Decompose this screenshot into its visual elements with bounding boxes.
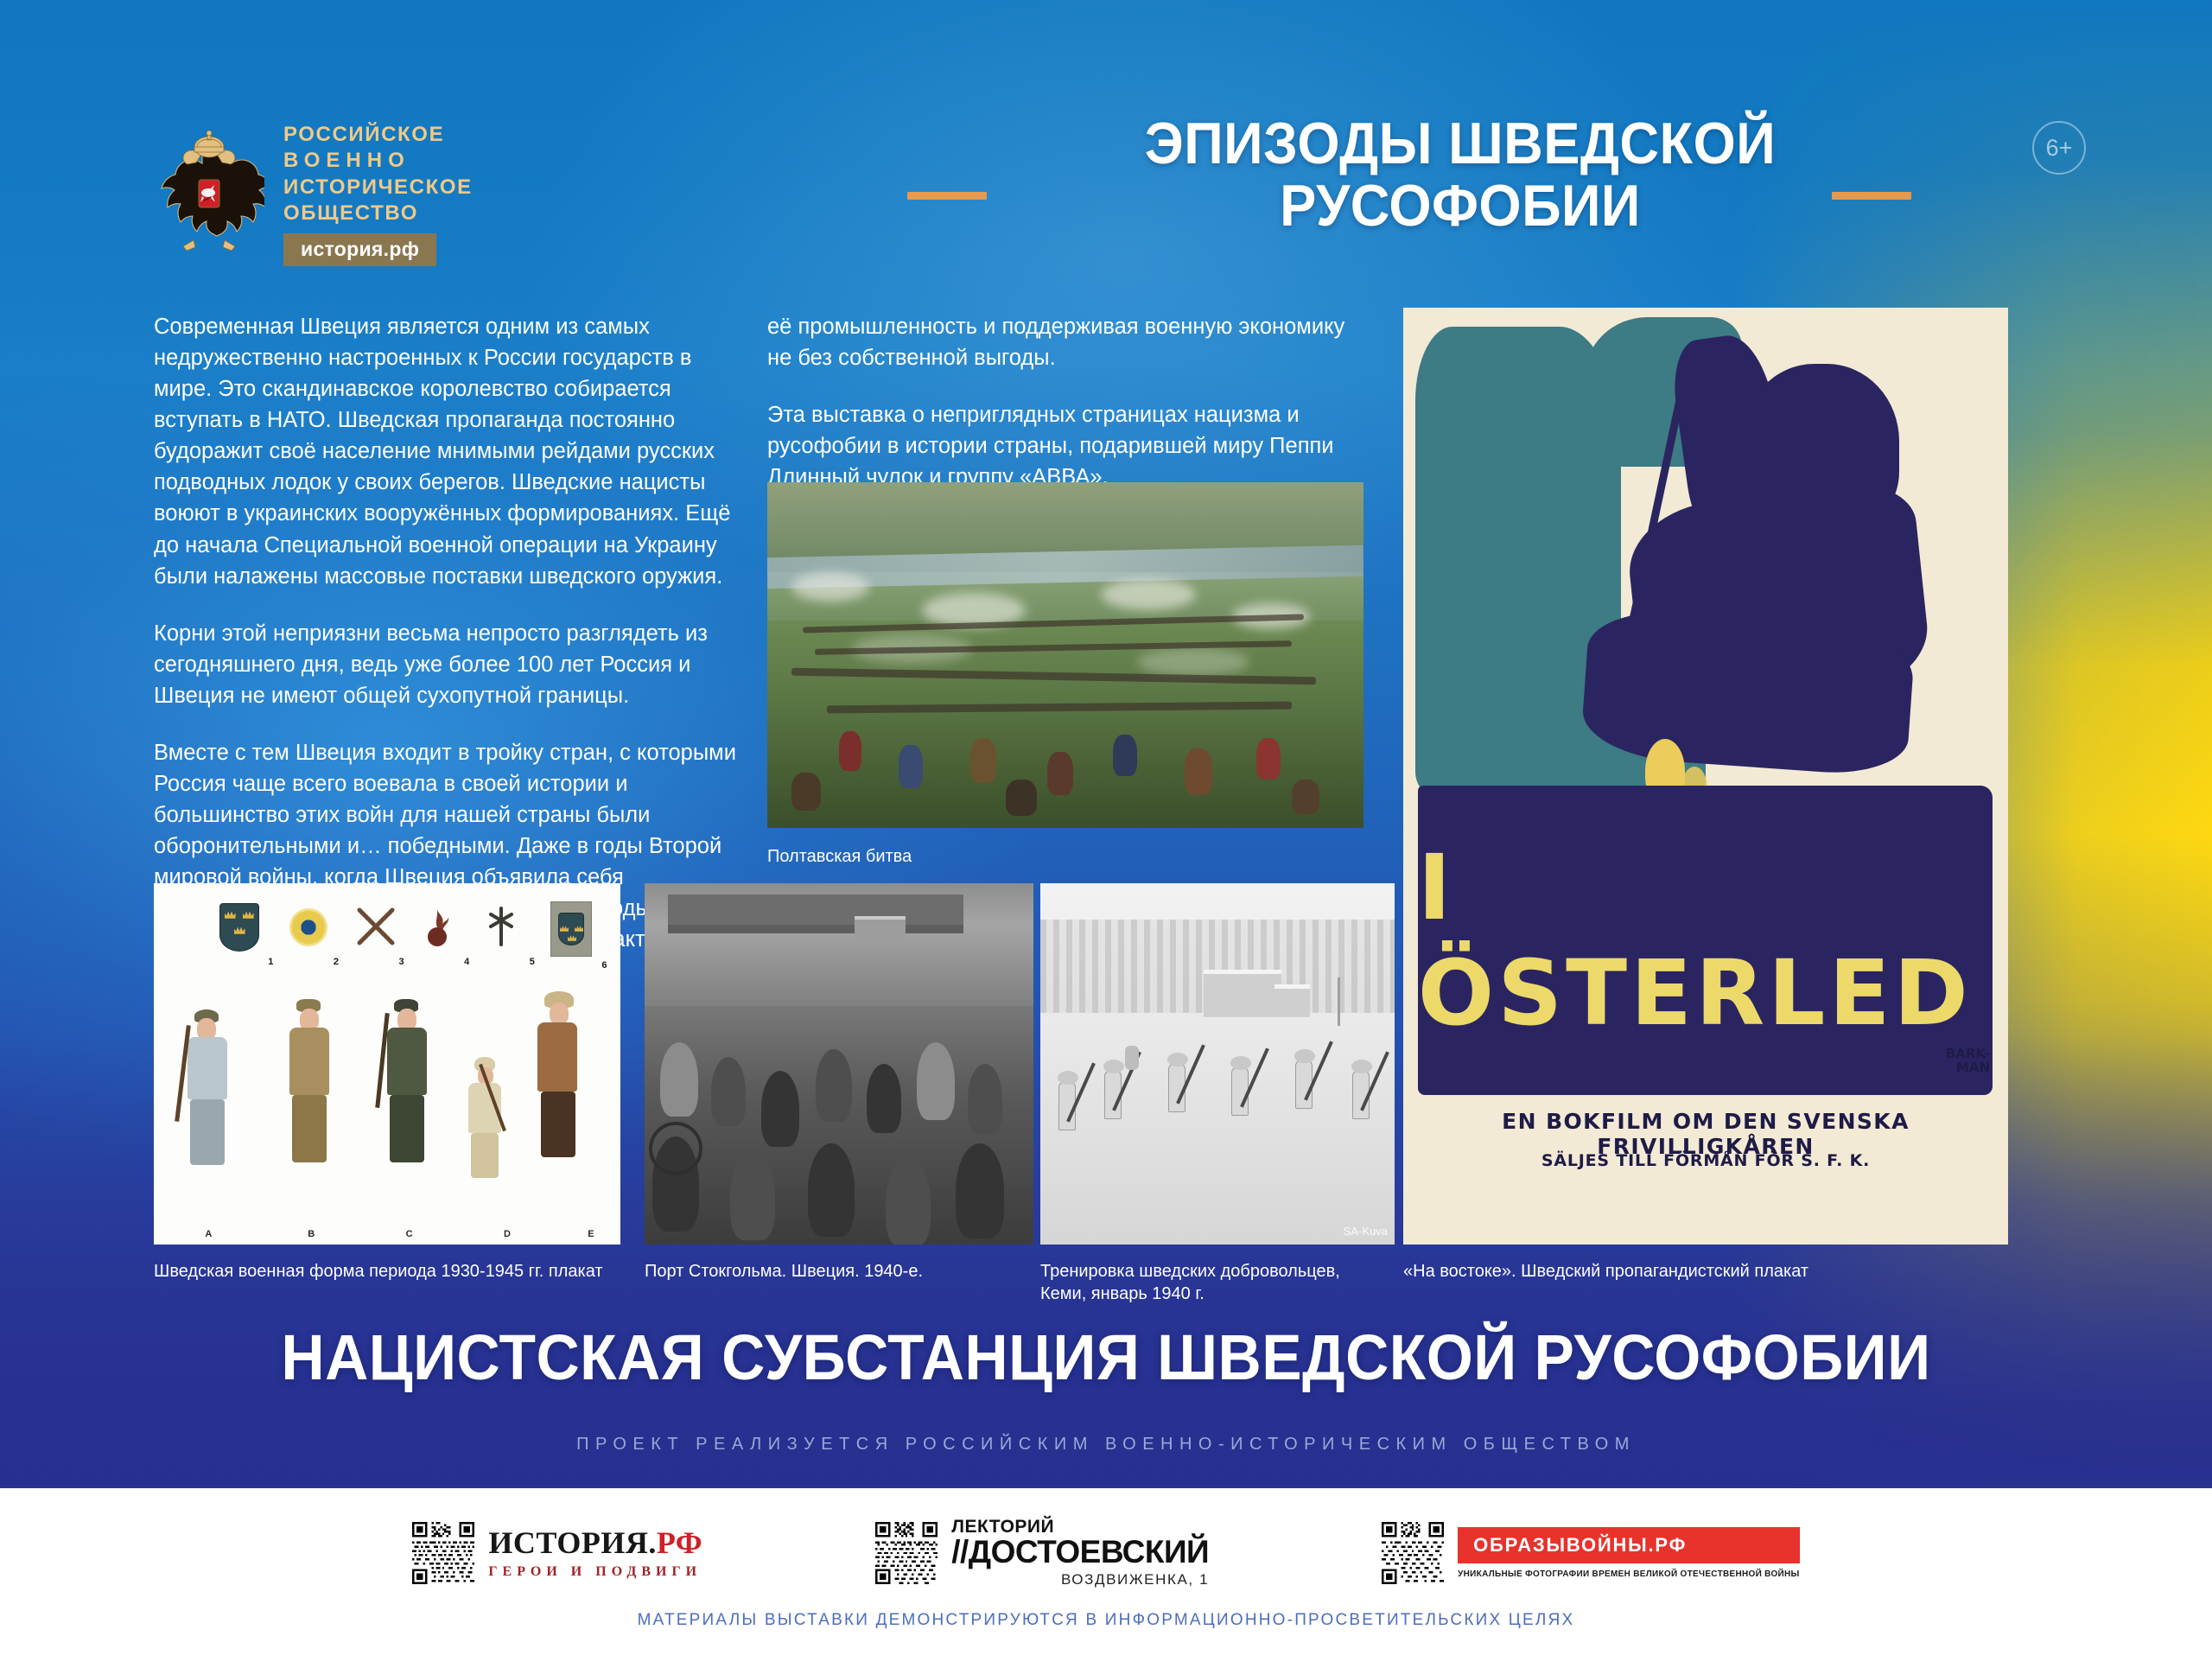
title-line-2: РУСОФОБИИ [978,175,1942,237]
body-text-right-column: её промышленность и поддерживая военную … [767,311,1363,493]
title-line-1: ЭПИЗОДЫ ШВЕДСКОЙ [978,112,1942,175]
figure-letter-e: E [588,1229,594,1239]
obrazyvoyny-badge: ОБРАЗЫВОЙНЫ.РФ [1458,1527,1799,1563]
footer-disclaimer: МАТЕРИАЛЫ ВЫСТАВКИ ДЕМОНСТРИРУЮТСЯ В ИНФ… [0,1611,2212,1630]
qr-code-icon[interactable] [412,1522,474,1584]
logo-line-4: ОБЩЕСТВО [283,201,473,226]
poster-title-text: I ÖSTERLED [1418,786,1993,1095]
obrazyvoyny-badge-text: ОБРАЗЫВОЙНЫ.РФ [1473,1534,1687,1556]
bottom-headline: НАЦИСТСКАЯ СУБСТАНЦИЯ ШВЕДСКОЙ РУСОФОБИИ [67,1321,2145,1394]
caption-skiers-line-2: Кеми, январь 1940 г. [1040,1283,1386,1305]
poster-artist-signature: BARK- MAN [1946,1047,1990,1075]
figure-letter-d: D [504,1229,511,1239]
footer-logo-row: ИСТОРИЯ.РФ ГЕРОИ И ПОДВИГИ [0,1518,2212,1588]
figure-letter-b: B [308,1229,315,1239]
rvio-logo-text: РОССИЙСКОЕ ВОЕННО ИСТОРИЧЕСКОЕ ОБЩЕСТВО … [283,123,473,266]
paragraph-4: её промышленность и поддерживая военную … [767,311,1363,373]
figure-letter-c: C [406,1229,413,1239]
title-dash-left-icon [907,192,987,200]
caption-skiers: Тренировка шведских добровольцев, Кеми, … [1040,1260,1386,1305]
page-title: ЭПИЗОДЫ ШВЕДСКОЙ РУСОФОБИИ [942,112,1979,237]
rvio-logo: РОССИЙСКОЕ ВОЕННО ИСТОРИЧЕСКОЕ ОБЩЕСТВО … [154,123,473,266]
istoriya-rf-subtitle: ГЕРОИ И ПОДВИГИ [488,1564,702,1580]
paragraph-1: Современная Швеция является одним из сам… [154,311,741,592]
age-rating-badge: 6+ [2032,121,2086,175]
double-headed-eagle-icon [154,130,264,259]
insignia-number-2: 2 [334,957,339,967]
qr-code-icon[interactable] [1382,1522,1444,1584]
figure-letter-a: A [205,1229,212,1239]
photo-watermark: SA-Kuva [1344,1225,1388,1238]
caption-poltava: Полтавская битва [767,845,1286,868]
insignia-number-4: 4 [464,957,469,967]
caption-propaganda-poster: «На востоке». Шведский пропагандистский … [1403,1260,2008,1283]
dostoevsky-address: ВОЗДВИЖЕНКА, 1 [951,1571,1209,1588]
title-dash-right-icon [1832,192,1911,200]
qr-code-icon[interactable] [875,1522,938,1584]
dostoevsky-main-label: //ДОСТОЕВСКИЙ [951,1536,1209,1569]
logo-badge-istoriya-rf[interactable]: история.рф [283,233,436,266]
poster-note: SÄLJES TILL FÖRMÅN FÖR S. F. K. [1421,1151,1990,1170]
istoriya-rf-title-accent: РФ [657,1525,702,1560]
insignia-number-1: 1 [268,957,273,967]
poltava-battle-painting [767,482,1363,828]
exhibition-poster: РОССИЙСКОЕ ВОЕННО ИСТОРИЧЕСКОЕ ОБЩЕСТВО … [0,0,2212,1668]
logo-line-3: ИСТОРИЧЕСКОЕ [283,175,473,200]
istoriya-rf-title-main: ИСТОРИЯ. [488,1525,657,1560]
paragraph-2: Корни этой неприязни весьма непросто раз… [154,618,741,711]
caption-uniforms: Шведская военная форма периода 1930-1945… [154,1260,638,1283]
logo-line-1: РОССИЙСКОЕ [283,123,473,147]
insignia-number-3: 3 [399,957,404,967]
obrazyvoyny-rf-logo[interactable]: ОБРАЗЫВОЙНЫ.РФ УНИКАЛЬНЫЕ ФОТОГРАФИИ ВРЕ… [1382,1522,1799,1584]
istoriya-rf-title: ИСТОРИЯ.РФ [488,1527,702,1558]
stockholm-port-photo [645,883,1033,1245]
dostoevsky-top-label: ЛЕКТОРИЙ [951,1518,1209,1536]
signature-line-2: MAN [1946,1061,1990,1075]
swedish-volunteers-training-photo: SA-Kuva [1040,883,1395,1245]
swedish-propaganda-poster: I ÖSTERLED BARK- MAN EN BOKFILM OM DEN S… [1403,308,2008,1245]
insignia-number-5: 5 [530,957,535,967]
insignia-number-6: 6 [601,960,607,971]
swedish-uniforms-plate: 1 2 3 4 5 [154,883,620,1245]
istoriya-rf-logo[interactable]: ИСТОРИЯ.РФ ГЕРОИ И ПОДВИГИ [412,1522,702,1584]
logo-line-2: ВОЕННО [283,149,473,173]
caption-skiers-line-1: Тренировка шведских добровольцев, [1040,1260,1386,1283]
paragraph-5: Эта выставка о неприглядных страницах на… [767,399,1363,493]
dostoevsky-lectorium-logo[interactable]: ЛЕКТОРИЙ //ДОСТОЕВСКИЙ ВОЗДВИЖЕНКА, 1 [875,1518,1209,1588]
obrazyvoyny-subtitle: УНИКАЛЬНЫЕ ФОТОГРАФИИ ВРЕМЕН ВЕЛИКОЙ ОТЕ… [1458,1569,1799,1579]
caption-port: Порт Стокгольма. Швеция. 1940-е. [645,1260,1025,1283]
project-tagline: ПРОЕКТ РЕАЛИЗУЕТСЯ РОССИЙСКИМ ВОЕННО-ИСТ… [0,1435,2212,1455]
